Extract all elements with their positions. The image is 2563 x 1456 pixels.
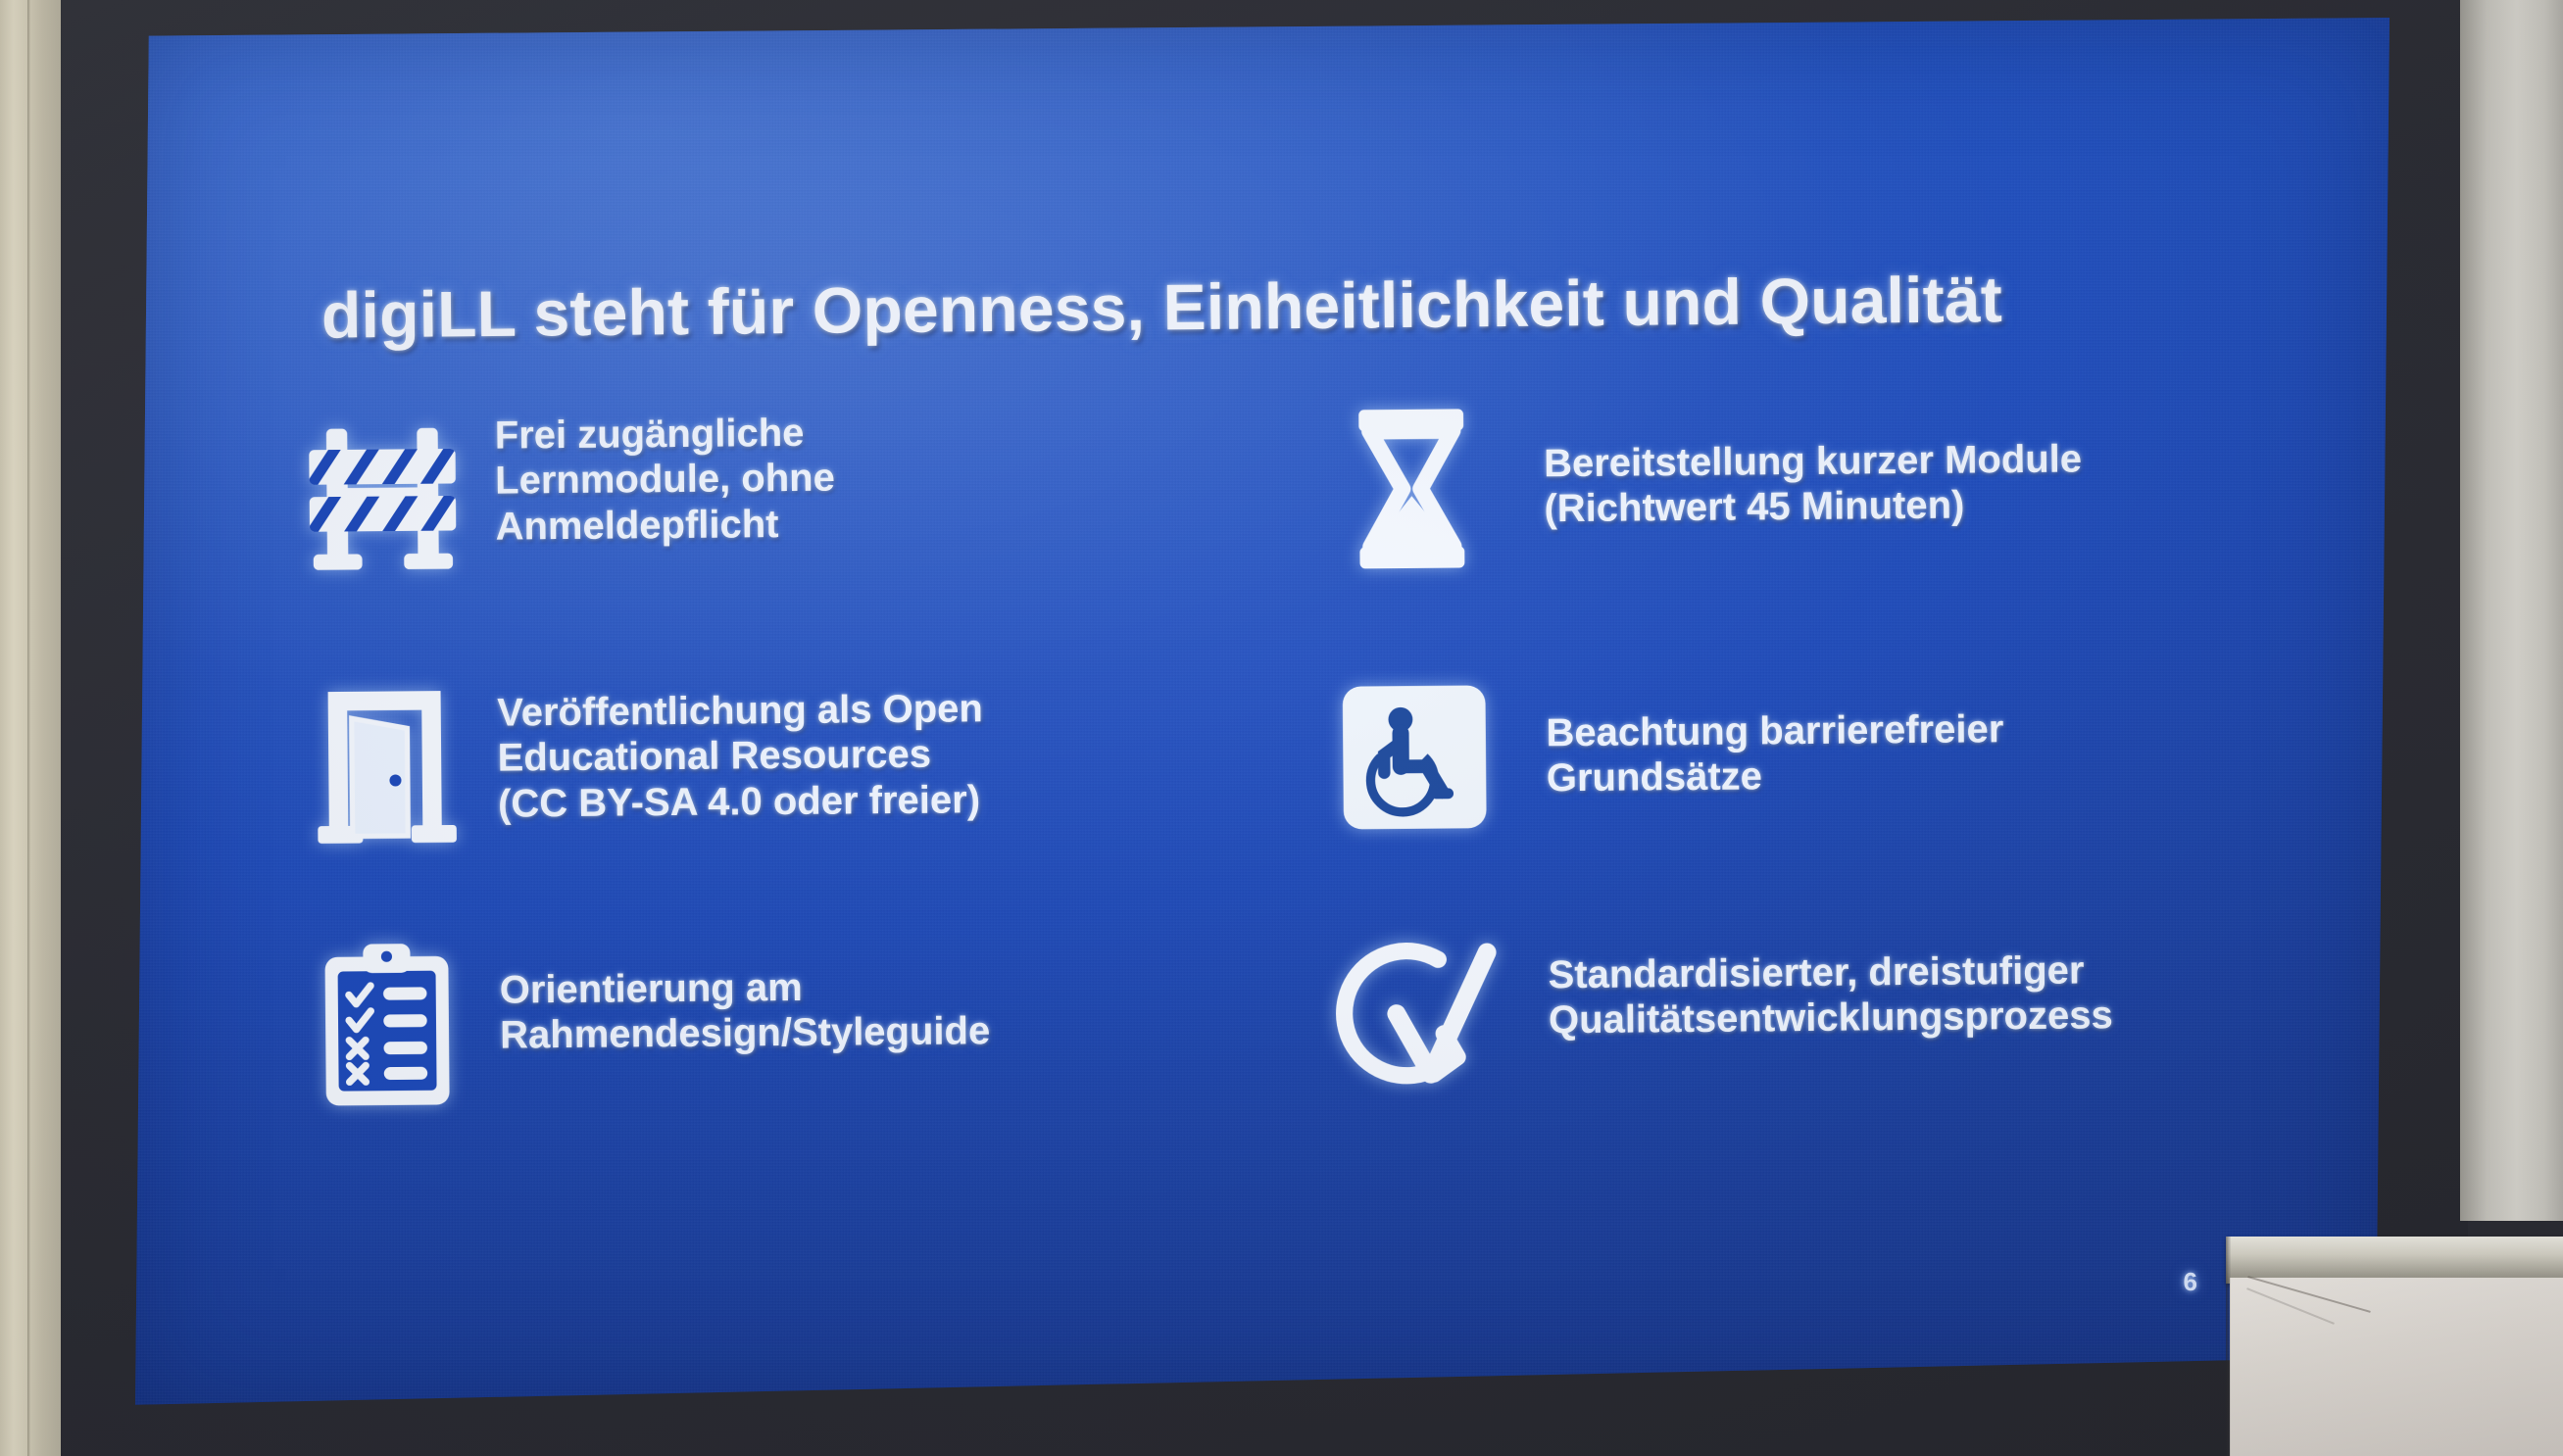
- feature-text-quality-process: Standardisierter, dreistufiger Qualitäts…: [1548, 922, 2113, 1043]
- flipchart-edge: [2226, 1237, 2231, 1456]
- wall-seam: [27, 0, 30, 1456]
- feature-text-short-modules: Bereitstellung kurzer Module (Richtwert …: [1544, 393, 2083, 532]
- feature-item-accessibility: Beachtung barrierefreier Grundsätze: [1281, 660, 2351, 930]
- slide-content: digiLL steht für Openness, Einheitlichke…: [135, 18, 2390, 1419]
- feature-grid: Frei zugängliche Lernmodule, ohne Anmeld…: [270, 390, 2433, 1192]
- feature-item-short-modules: Bereitstellung kurzer Module (Richtwert …: [1279, 391, 2349, 670]
- feature-item-oer: Veröffentlichung als Open Educational Re…: [271, 670, 1283, 939]
- feature-line: Lernmodule, ohne: [495, 456, 835, 504]
- slide-number: 6: [2184, 1267, 2197, 1297]
- feature-text-styleguide: Orientierung am Rahmendesign/Styleguide: [499, 932, 990, 1058]
- projected-slide: digiLL steht für Openness, Einheitlichke…: [135, 18, 2390, 1419]
- feature-line: Frei zugängliche: [495, 411, 835, 459]
- feature-line: Bereitstellung kurzer Module: [1544, 436, 2082, 486]
- feature-line: (Richtwert 45 Minuten): [1544, 482, 2082, 532]
- hourglass-icon: [1279, 398, 1546, 576]
- feature-text-open-access: Frei zugängliche Lernmodule, ohne Anmeld…: [495, 405, 836, 550]
- feature-line: Beachtung barrierefreier: [1546, 706, 2003, 755]
- feature-line: Anmeldepflicht: [495, 501, 835, 549]
- wheelchair-accessibility-icon: [1281, 667, 1548, 846]
- feature-item-quality-process: Standardisierter, dreistufiger Qualitäts…: [1283, 920, 2353, 1185]
- flipchart-paper: [2230, 1278, 2563, 1456]
- cycle-checkmark-icon: [1283, 927, 1550, 1105]
- flipchart-rail: [2226, 1237, 2563, 1284]
- clipboard-checklist-icon: [273, 937, 501, 1115]
- feature-item-open-access: Frei zugängliche Lernmodule, ohne Anmeld…: [270, 401, 1281, 679]
- feature-line: (CC BY-SA 4.0 oder freier): [498, 777, 984, 827]
- wall-left: [0, 0, 61, 1456]
- feature-line: Orientierung am: [500, 963, 990, 1013]
- feature-line: Qualitätsentwicklungsprozess: [1549, 994, 2113, 1043]
- feature-line: Rahmendesign/Styleguide: [500, 1009, 990, 1059]
- open-door-icon: [271, 677, 499, 855]
- wall-right: [2460, 0, 2563, 1221]
- road-barrier-icon: [270, 408, 497, 586]
- slide-title: digiLL steht für Openness, Einheitlichke…: [321, 260, 2283, 353]
- feature-line: Educational Resources: [497, 732, 983, 782]
- photo-scene: digiLL steht für Openness, Einheitlichke…: [0, 0, 2563, 1456]
- feature-line: Grundsätze: [1547, 752, 2004, 801]
- feature-line: Standardisierter, dreistufiger: [1548, 947, 2112, 997]
- flipchart-easel: [2210, 1221, 2563, 1456]
- feature-text-accessibility: Beachtung barrierefreier Grundsätze: [1546, 663, 2004, 801]
- feature-line: Veröffentlichung als Open: [497, 686, 983, 736]
- feature-item-styleguide: Orientierung am Rahmendesign/Styleguide: [273, 930, 1285, 1193]
- feature-text-oer: Veröffentlichung als Open Educational Re…: [497, 672, 984, 826]
